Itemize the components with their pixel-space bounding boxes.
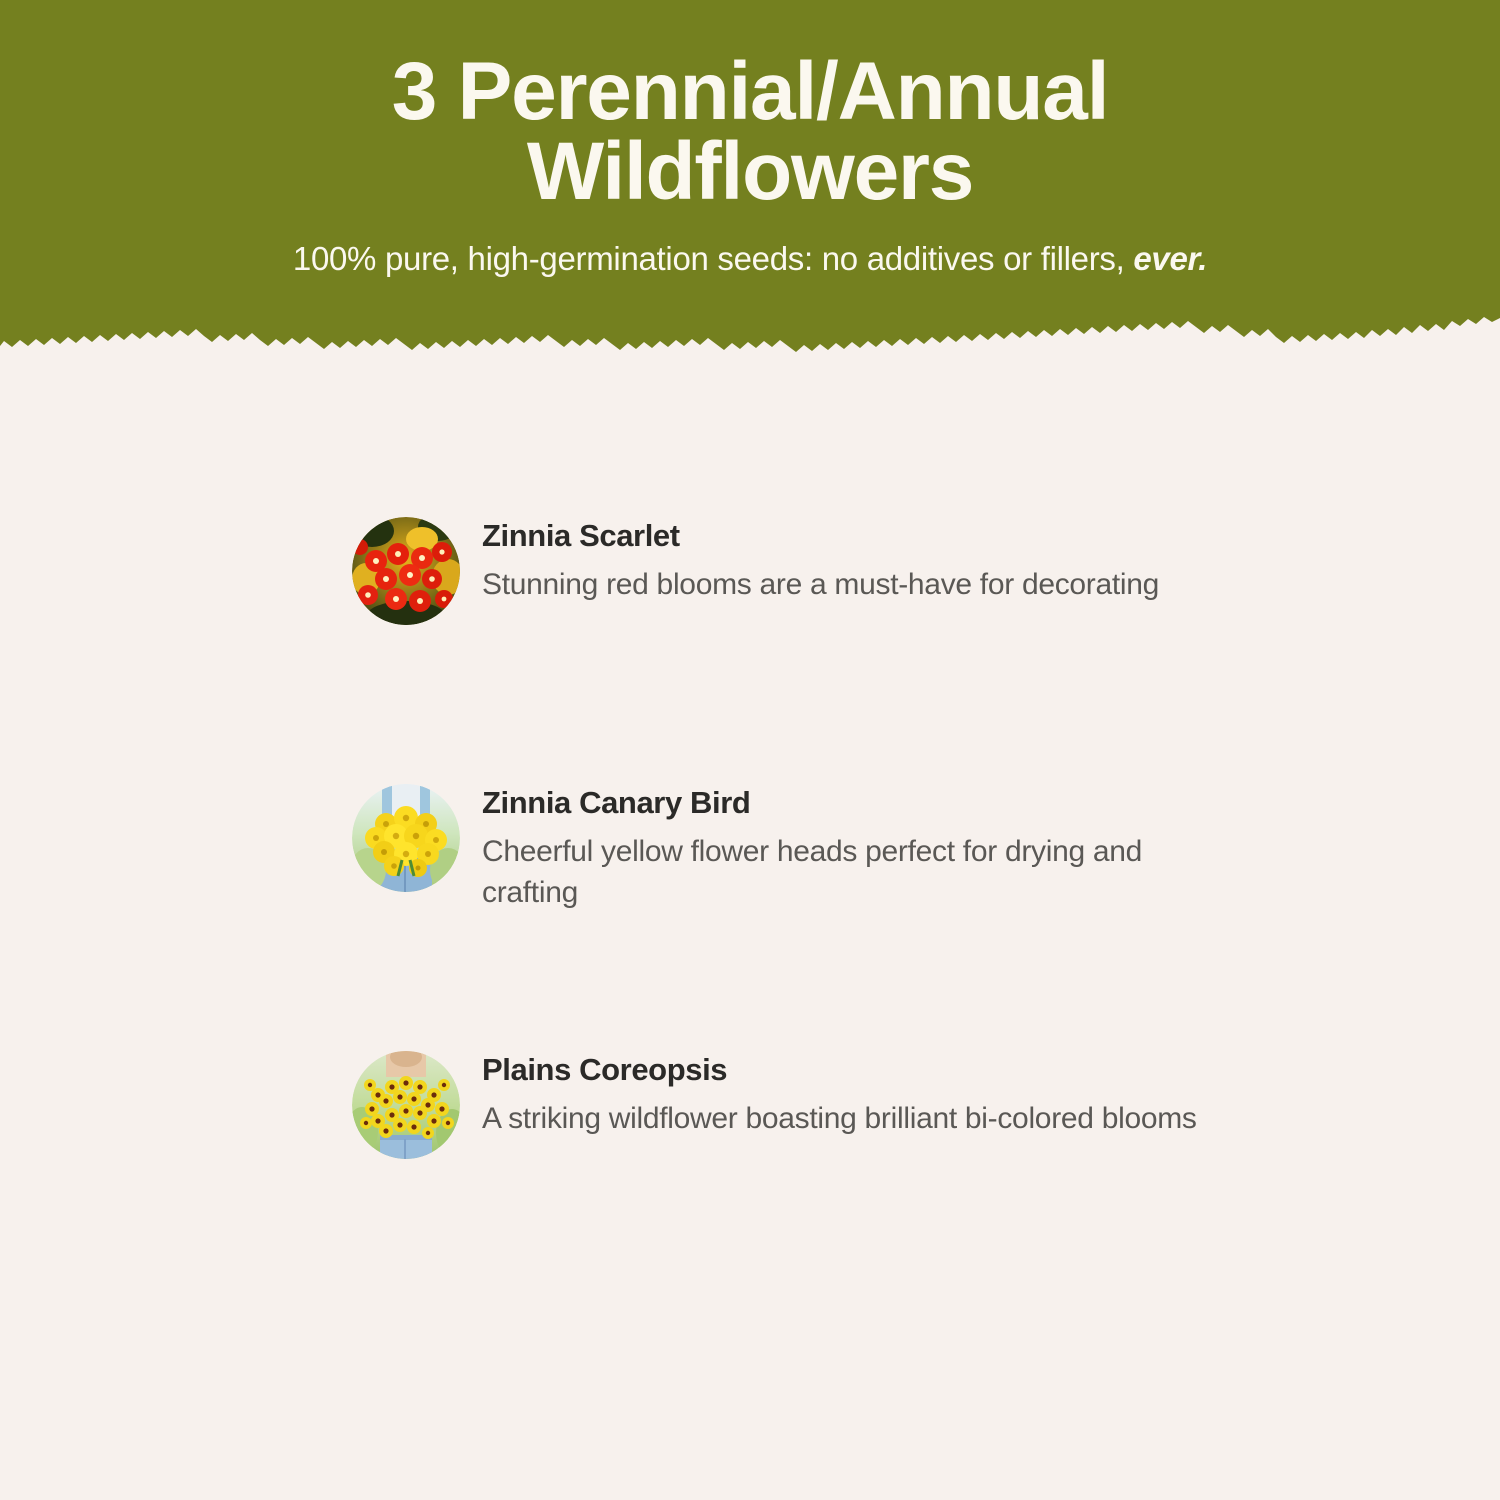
item-description: Cheerful yellow flower heads perfect for… [482, 820, 1242, 914]
item-text-block: Zinnia Canary Bird Cheerful yellow flowe… [460, 772, 1242, 914]
item-text-block: Plains Coreopsis A striking wildflower b… [460, 1039, 1197, 1139]
list-item: Zinnia Scarlet Stunning red blooms are a… [352, 505, 1352, 772]
item-title: Zinnia Canary Bird [482, 786, 1242, 820]
list-item: Plains Coreopsis A striking wildflower b… [352, 1039, 1352, 1306]
item-title: Plains Coreopsis [482, 1053, 1197, 1087]
banner-subtitle-lead: 100% pure, high-germination seeds: no ad… [293, 240, 1133, 277]
banner-subtitle-emphasis: ever. [1133, 240, 1207, 277]
banner-content: 3 Perennial/Annual Wildflowers 100% pure… [0, 0, 1500, 278]
wildflower-list: Zinnia Scarlet Stunning red blooms are a… [352, 505, 1352, 1306]
item-description: A striking wildflower boasting brilliant… [482, 1087, 1197, 1139]
item-text-block: Zinnia Scarlet Stunning red blooms are a… [460, 505, 1159, 605]
zinnia-scarlet-thumbnail [352, 517, 460, 625]
item-description: Stunning red blooms are a must-have for … [482, 553, 1159, 605]
banner-subtitle: 100% pure, high-germination seeds: no ad… [0, 213, 1500, 279]
list-item: Zinnia Canary Bird Cheerful yellow flowe… [352, 772, 1352, 1039]
header-banner: 3 Perennial/Annual Wildflowers 100% pure… [0, 0, 1500, 360]
page-title: 3 Perennial/Annual Wildflowers [210, 0, 1290, 213]
zinnia-canary-bird-thumbnail [352, 784, 460, 892]
item-title: Zinnia Scarlet [482, 519, 1159, 553]
plains-coreopsis-thumbnail [352, 1051, 460, 1159]
